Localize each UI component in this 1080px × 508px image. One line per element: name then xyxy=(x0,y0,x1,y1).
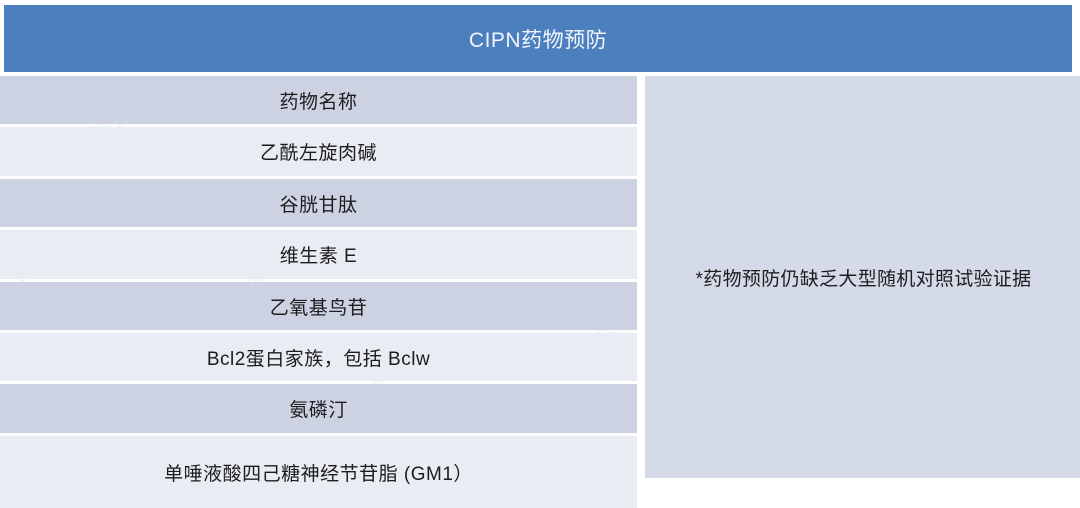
table-cell-label: 谷胱甘肽 xyxy=(279,190,357,217)
table-row: 乙酰左旋肉碱 xyxy=(0,127,637,176)
table-cell-label: Bcl2蛋白家族，包括 Bclw xyxy=(207,344,430,371)
table-column-header: 药物名称 xyxy=(0,76,637,124)
page-title: CIPN药物预防 xyxy=(469,24,607,54)
table-cell-label: 乙酰左旋肉碱 xyxy=(260,138,377,165)
table-cell-label: 维生素 E xyxy=(280,241,357,268)
table-cell-label: 药物名称 xyxy=(279,87,357,114)
table-row: 谷胱甘肽 xyxy=(0,179,637,227)
table-row: 维生素 E xyxy=(0,230,637,279)
column-divider xyxy=(637,76,645,482)
table-row: 单唾液酸四己糖神经节苷脂 (GM1） xyxy=(0,436,637,508)
table-row: Bcl2蛋白家族，包括 Bclw xyxy=(0,333,637,381)
table-cell-label: 乙氧基鸟苷 xyxy=(270,293,368,320)
drug-prevention-table: 药物名称 乙酰左旋肉碱 谷胱甘肽 维生素 E 乙氧基鸟苷 Bcl2蛋白家族，包括… xyxy=(0,76,1080,482)
table-cell-label: 氨磷汀 xyxy=(289,395,348,422)
table-row: 乙氧基鸟苷 xyxy=(0,282,637,330)
note-panel: *药物预防仍缺乏大型随机对照试验证据 xyxy=(645,76,1080,478)
table-title-bar: CIPN药物预防 xyxy=(4,5,1072,72)
note-text: *药物预防仍缺乏大型随机对照试验证据 xyxy=(696,264,1032,291)
table-row: 氨磷汀 xyxy=(0,384,637,433)
infographic-canvas: CIPN药物预防 药物名称 乙酰左旋肉碱 谷胱甘肽 维生素 E 乙氧基鸟苷 Bc… xyxy=(0,0,1080,490)
drug-name-column: 药物名称 乙酰左旋肉碱 谷胱甘肽 维生素 E 乙氧基鸟苷 Bcl2蛋白家族，包括… xyxy=(0,76,637,482)
table-cell-label: 单唾液酸四己糖神经节苷脂 (GM1） xyxy=(164,459,473,486)
